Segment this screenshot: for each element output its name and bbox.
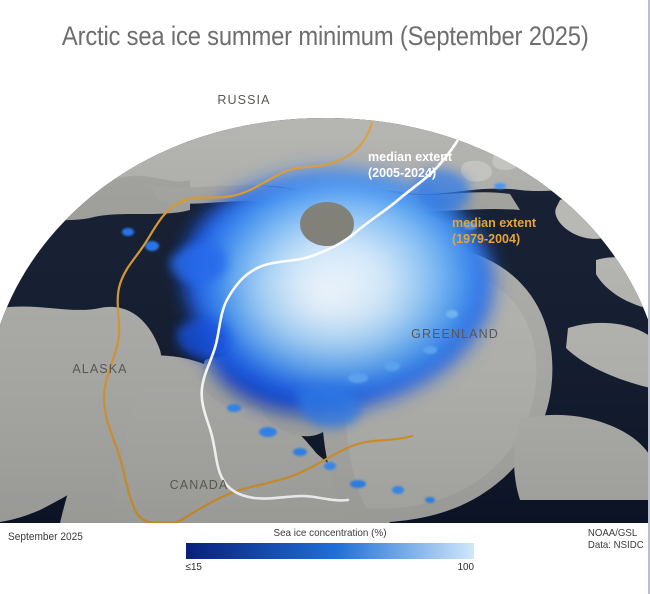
colorbar-legend: Sea ice concentration (%) ≤15 100	[185, 527, 475, 577]
colorbar-tick-low: ≤15	[186, 561, 202, 573]
figure-footer: September 2025 Sea ice concentration (%)…	[0, 523, 650, 594]
credit-data-source: Data: NSIDC	[588, 539, 644, 551]
geo-label-russia: RUSSIA	[217, 93, 270, 107]
annot-recent-line2: (2005-2024)	[368, 166, 436, 180]
annot-recent-line1: median extent	[368, 150, 453, 164]
title-bar: Arctic sea ice summer minimum (September…	[0, 0, 650, 72]
annot-historic-line1: median extent	[452, 216, 537, 230]
annot-historic-line2: (1979-2004)	[452, 232, 520, 246]
colorbar-tick-high: 100	[458, 561, 474, 573]
footer-credit: NOAA/GSL Data: NSIDC	[588, 527, 644, 551]
colorbar-title: Sea ice concentration (%)	[194, 527, 467, 539]
page-title: Arctic sea ice summer minimum (September…	[62, 21, 589, 52]
colorbar-ticks: ≤15 100	[185, 561, 475, 577]
figure-frame: Arctic sea ice summer minimum (September…	[0, 0, 650, 594]
footer-date: September 2025	[8, 531, 83, 543]
credit-agency: NOAA/GSL	[588, 527, 644, 539]
colorbar-gradient	[185, 542, 475, 560]
geo-label-greenland: GREENLAND	[411, 327, 499, 341]
geo-label-alaska: ALASKA	[72, 362, 127, 376]
arctic-map-svg: RUSSIA GREENLAND ALASKA CANADA median ex…	[0, 60, 650, 523]
geo-label-canada: CANADA	[170, 478, 229, 492]
map-canvas: RUSSIA GREENLAND ALASKA CANADA median ex…	[0, 60, 650, 523]
